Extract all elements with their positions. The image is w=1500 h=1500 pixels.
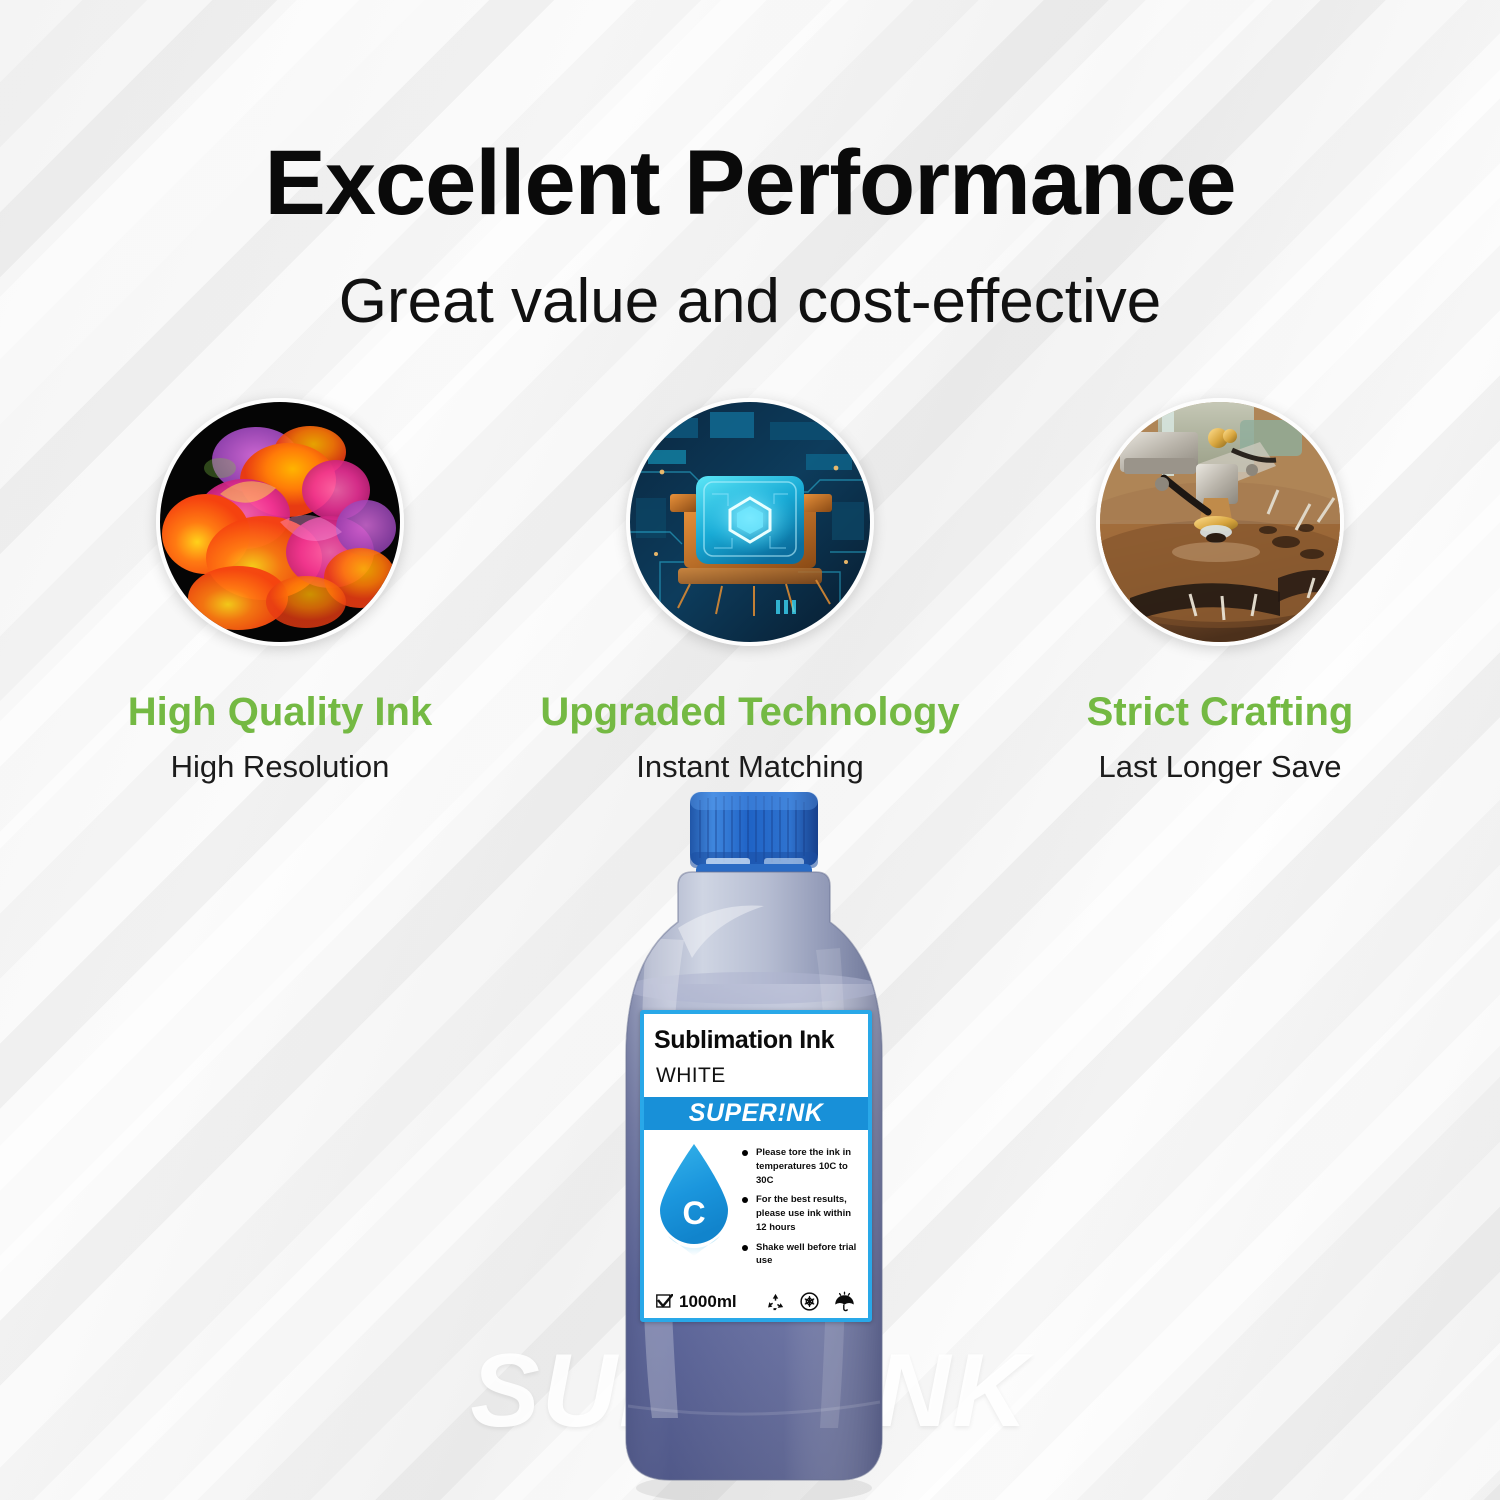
page-subtitle: Great value and cost-effective [0, 268, 1500, 336]
recycle-icon [765, 1292, 786, 1312]
label-color-name: WHITE [656, 1064, 868, 1088]
feature-title: Strict Crafting [1087, 691, 1354, 733]
list-item: For the best results, please use ink wit… [742, 1193, 860, 1234]
ink-bottle: Sublimation Ink WHITE SUPER!NK [604, 788, 904, 1500]
bottle-label: Sublimation Ink WHITE SUPER!NK [640, 1010, 872, 1322]
label-volume-text: 1000ml [679, 1292, 737, 1312]
feature-item-upgraded-technology: Upgraded Technology Instant Matching [515, 398, 985, 785]
list-item: Please tore the ink in temperatures 10C … [742, 1146, 860, 1187]
cyan-drop-icon: C [652, 1140, 736, 1274]
keep-dry-umbrella-icon [833, 1291, 856, 1312]
svg-text:C: C [682, 1195, 705, 1231]
label-middle-section: C Please tore the ink in temperatures 10… [644, 1130, 868, 1274]
label-bottom-row: 1000ml [644, 1291, 868, 1312]
list-item: Shake well before trial use [742, 1241, 860, 1269]
label-symbol-icons [765, 1291, 856, 1312]
label-product-title: Sublimation Ink [654, 1026, 868, 1055]
feature-title: Upgraded Technology [540, 691, 959, 733]
circuit-board-chip-photo [626, 398, 874, 646]
feature-title: High Quality Ink [128, 691, 432, 733]
no-freeze-icon [799, 1291, 820, 1312]
feature-item-high-quality-ink: High Quality Ink High Resolution [45, 398, 515, 785]
product-infographic: Excellent Performance Great value and co… [0, 0, 1500, 1500]
label-brand-band: SUPER!NK [644, 1097, 868, 1130]
label-brand-name: SUPER!NK [689, 1099, 824, 1128]
checkmark-icon [656, 1294, 673, 1309]
feature-subtitle: Instant Matching [636, 749, 863, 785]
feature-subtitle: Last Longer Save [1098, 749, 1341, 785]
feature-item-strict-crafting: Strict Crafting Last Longer Save [985, 398, 1455, 785]
feature-row: High Quality Ink High Resolution [0, 398, 1500, 785]
feature-subtitle: High Resolution [171, 749, 390, 785]
label-instruction-list: Please tore the ink in temperatures 10C … [736, 1140, 860, 1274]
label-volume: 1000ml [656, 1292, 737, 1312]
colorful-ink-swirl-photo [156, 398, 404, 646]
laser-cutting-machine-photo [1096, 398, 1344, 646]
page-title: Excellent Performance [0, 136, 1500, 232]
